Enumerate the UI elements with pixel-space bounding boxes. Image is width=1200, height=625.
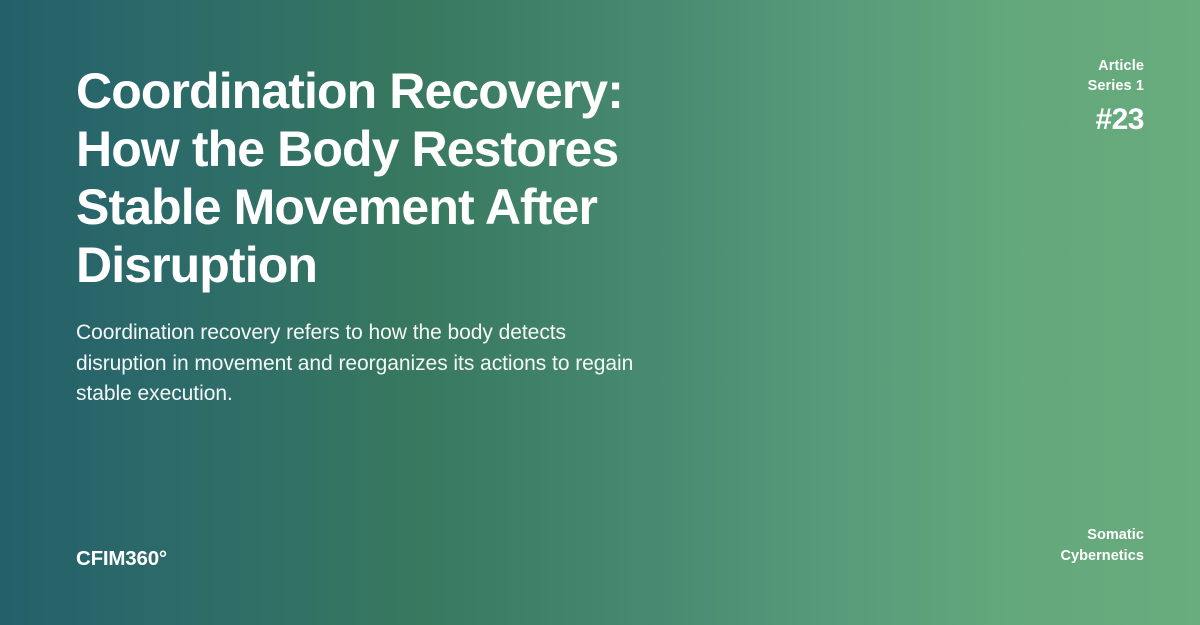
article-cover-card: Article Series 1 #23 Coordination Recove…	[0, 0, 1200, 625]
topic-tag-line-1: Somatic	[1060, 525, 1144, 546]
topic-tag: Somatic Cybernetics	[1060, 525, 1144, 567]
series-label-line-2: Series 1	[1088, 76, 1144, 96]
article-series-badge: Article Series 1 #23	[1088, 56, 1144, 135]
article-summary: Coordination recovery refers to how the …	[76, 318, 638, 410]
brand-logo: CFIM360°	[76, 549, 167, 570]
series-label-line-1: Article	[1088, 56, 1144, 76]
article-text-block: Coordination Recovery: How the Body Rest…	[76, 62, 716, 410]
page-title: Coordination Recovery: How the Body Rest…	[76, 62, 676, 294]
topic-tag-line-2: Cybernetics	[1060, 546, 1144, 567]
article-number: #23	[1088, 105, 1144, 135]
